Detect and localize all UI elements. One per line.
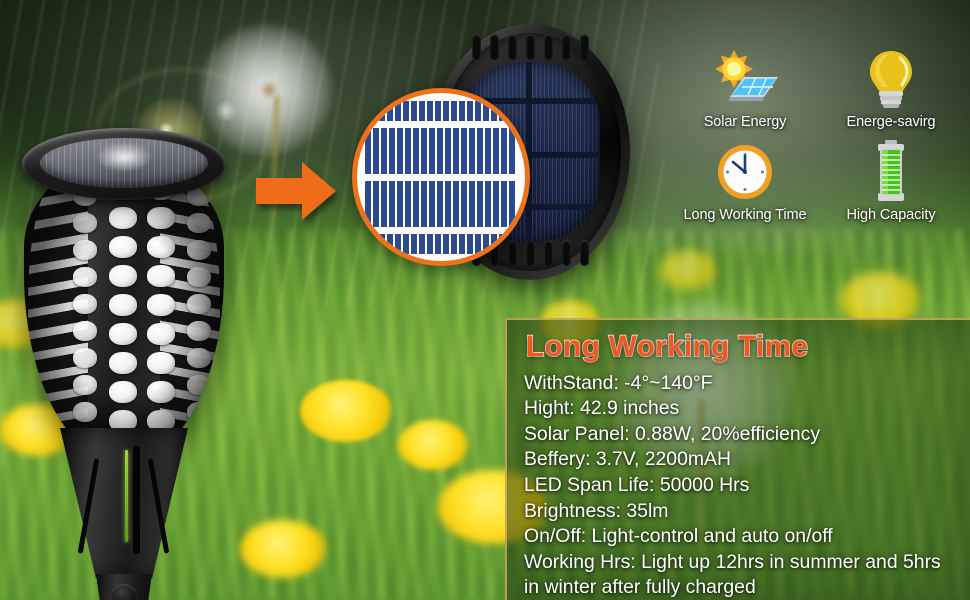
led-window-column xyxy=(70,186,100,448)
lamp-power-button[interactable] xyxy=(111,584,137,600)
led-window-column xyxy=(108,178,138,440)
clock-icon xyxy=(672,137,818,207)
spec-line: Working Hrs: Light up 12hrs in summer an… xyxy=(524,550,970,600)
feature-label: Solar Energy xyxy=(672,114,818,130)
product-marketing-image: Solar Energy Energe-savirg xyxy=(0,0,970,600)
lamp-body xyxy=(24,158,224,458)
feature-long-working-time: Long Working Time xyxy=(672,137,818,223)
spec-line: Beffery: 3.7V, 2200mAH xyxy=(524,447,970,473)
lamp-neck-light-strip xyxy=(125,450,128,542)
specifications-panel: Long Working Time WithStand: -4°~140°F H… xyxy=(505,318,970,600)
spec-line: Brightness: 35lm xyxy=(524,499,970,525)
solar-torch-light-product xyxy=(8,128,240,600)
feature-label: Long Working Time xyxy=(672,207,818,223)
flower-yellow xyxy=(240,520,326,578)
spec-line: Solar Panel: 0.88W, 20%efficiency xyxy=(524,422,970,448)
led-window-column xyxy=(184,186,214,448)
solar-cell-band xyxy=(365,181,517,227)
solar-panel-sun-icon xyxy=(672,44,818,114)
head-vents-top xyxy=(430,34,630,64)
spec-line: On/Off: Light-control and auto on/off xyxy=(524,524,970,550)
feature-label: High Capacity xyxy=(818,207,964,223)
lamp-top-highlight xyxy=(96,142,152,172)
flower-yellow xyxy=(660,250,716,290)
solar-cell-band xyxy=(365,128,517,174)
spec-panel-title: Long Working Time xyxy=(526,330,970,364)
spec-line: Hight: 42.9 inches xyxy=(524,396,970,422)
magnified-solar-cell-icon xyxy=(352,88,530,266)
spec-line: LED Span Life: 50000 Hrs xyxy=(524,473,970,499)
lens-flare-spot xyxy=(215,100,237,122)
feature-solar-energy: Solar Energy xyxy=(672,44,818,130)
battery-icon xyxy=(818,137,964,207)
spec-line: WithStand: -4°~140°F xyxy=(524,371,970,397)
flower-yellow xyxy=(398,420,468,470)
light-bulb-icon xyxy=(818,44,964,114)
feature-icon-grid: Solar Energy Energe-savirg xyxy=(672,44,964,230)
right-arrow-icon xyxy=(256,160,336,222)
feature-high-capacity: High Capacity xyxy=(818,137,964,223)
lamp-neck xyxy=(60,428,188,578)
led-window-column xyxy=(146,178,176,440)
lamp-neck-slot xyxy=(133,446,140,554)
flower-yellow xyxy=(300,380,392,442)
lamp-solar-top xyxy=(22,128,226,200)
feature-energy-saving: Energe-savirg xyxy=(818,44,964,130)
solar-cell-band xyxy=(379,234,503,254)
feature-label: Energe-savirg xyxy=(818,114,964,130)
solar-cell-band xyxy=(379,101,503,121)
